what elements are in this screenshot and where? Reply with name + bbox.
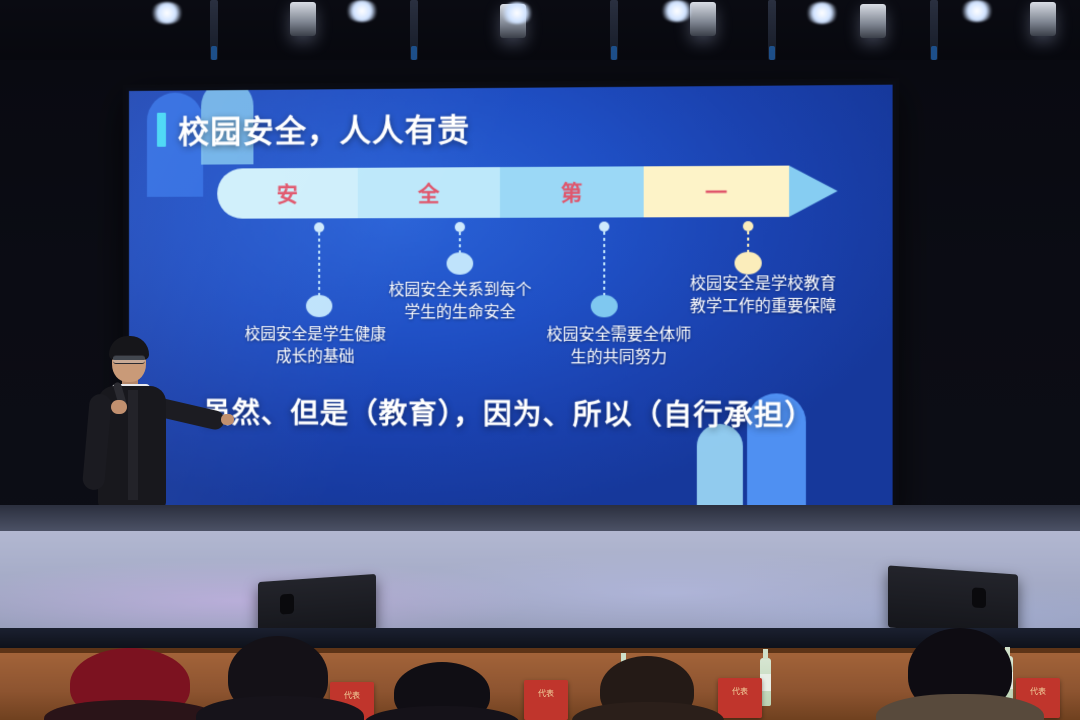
spotlight-glow — [960, 0, 994, 22]
callout-4: 校园安全是学校教育 教学工作的重要保障 — [638, 272, 888, 318]
presenter-mic-hand — [111, 400, 127, 414]
speaker-handle — [280, 594, 294, 615]
connector-dot-top-2 — [455, 222, 465, 232]
connector-stem-1 — [318, 232, 320, 299]
callout-4-line2: 教学工作的重要保障 — [638, 295, 888, 318]
page-title: 校园安全，人人有责 — [178, 104, 470, 151]
callout-3-line1: 校园安全需要全体师 — [500, 323, 739, 346]
callout-2-line2: 学生的生命安全 — [343, 301, 579, 324]
speaker-handle — [972, 587, 986, 608]
stage-light — [290, 2, 316, 36]
callout-2: 校园安全关系到每个 学生的生命安全 — [343, 279, 579, 325]
namecard-text: 代表 — [1016, 686, 1060, 697]
connector-dot-1 — [306, 295, 332, 317]
table-namecard: 代表 — [524, 680, 568, 720]
namecard-text: 代表 — [330, 690, 374, 701]
banner-segment-3: 第 — [500, 166, 644, 217]
namecard-text: 代表 — [524, 688, 568, 699]
stage-light — [690, 2, 716, 36]
stage-light — [860, 4, 886, 38]
callout-4-line1: 校园安全是学校教育 — [638, 272, 888, 295]
connector-dot-2 — [447, 252, 474, 274]
led-screen-frame: 校园安全，人人有责 安 全 第 一 — [126, 82, 896, 515]
light-hanger — [768, 0, 776, 60]
auditorium-photo: 校园安全，人人有责 安 全 第 一 — [0, 0, 1080, 720]
decor-pillar-shape — [697, 424, 743, 512]
banner-segment-1: 安 — [217, 168, 358, 219]
light-hanger — [610, 0, 618, 60]
presentation-slide: 校园安全，人人有责 安 全 第 一 — [129, 85, 893, 512]
glasses-icon — [113, 355, 145, 364]
light-hanger — [930, 0, 938, 60]
callout-1-line1: 校园安全是学生健康 — [199, 323, 432, 346]
callout-2-line1: 校园安全关系到每个 — [343, 279, 579, 302]
callout-1: 校园安全是学生健康 成长的基础 — [199, 323, 432, 369]
banner-segment-4: 一 — [644, 166, 789, 218]
stage-floor-edge — [0, 505, 1080, 531]
stage-light — [1030, 2, 1056, 36]
namecard-text: 代表 — [718, 686, 762, 697]
spotlight-glow — [805, 2, 839, 24]
callout-3-line2: 生的共同努力 — [500, 346, 739, 369]
arrow-banner: 安 全 第 一 — [217, 166, 789, 219]
stage-monitor-speaker — [888, 565, 1018, 636]
connector-dot-3 — [591, 295, 618, 317]
table-namecard: 代表 — [718, 678, 762, 718]
presenter-hand — [221, 414, 234, 425]
connector-dot-top-4 — [743, 221, 753, 231]
connector-dot-top-3 — [599, 222, 609, 232]
title-accent-bar — [157, 112, 166, 146]
connector-stem-3 — [603, 232, 605, 299]
arrow-tip — [789, 165, 837, 217]
light-hanger — [210, 0, 218, 60]
spotlight-glow — [345, 0, 379, 22]
banner-segment-2: 全 — [358, 167, 500, 218]
spotlight-glow — [660, 0, 694, 22]
connector-dot-top-1 — [314, 222, 324, 232]
spotlight-glow — [150, 2, 184, 24]
slide-headline: 虽然、但是（教育），因为、所以（自行承担） — [129, 391, 893, 435]
connector-dot-4 — [735, 252, 762, 275]
light-hanger — [410, 0, 418, 60]
callout-1-line2: 成长的基础 — [199, 346, 432, 369]
spotlight-glow — [500, 2, 534, 24]
callout-3: 校园安全需要全体师 生的共同努力 — [500, 323, 739, 369]
slide-title-row: 校园安全，人人有责 — [157, 104, 470, 151]
